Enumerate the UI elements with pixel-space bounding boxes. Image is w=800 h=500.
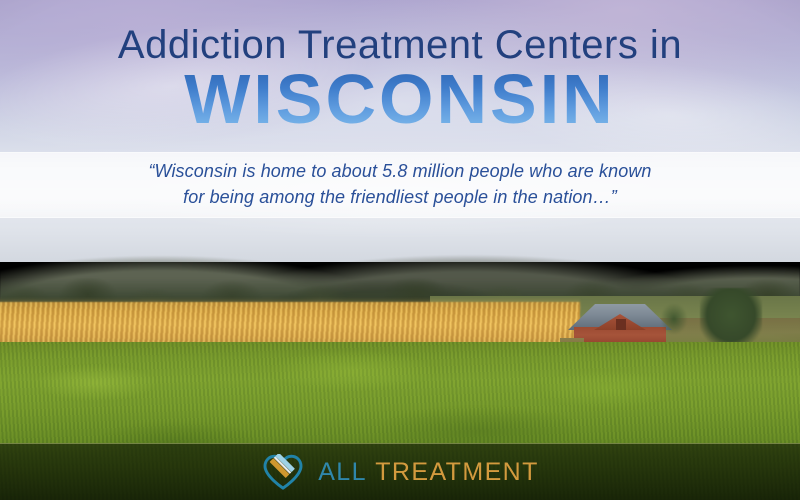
brand-word-all: ALL <box>318 458 367 486</box>
footer-bar: ALL TREATMENT <box>0 443 800 500</box>
hero-banner: Addiction Treatment Centers in WISCONSIN… <box>0 0 800 500</box>
barn-door <box>616 319 626 330</box>
subtitle-quote-line-2: for being among the friendliest people i… <box>183 185 617 211</box>
heart-stripes-icon <box>261 454 305 490</box>
page-title-state: WISCONSIN <box>0 64 800 134</box>
title-block: Addiction Treatment Centers in WISCONSIN <box>0 0 800 152</box>
tree-large <box>700 288 762 348</box>
subtitle-quote: “Wisconsin is home to about 5.8 million … <box>0 152 800 218</box>
brand-wordmark: ALL TREATMENT <box>318 458 539 487</box>
brand-word-treatment: TREATMENT <box>375 458 539 486</box>
subtitle-quote-line-1: “Wisconsin is home to about 5.8 million … <box>148 159 651 185</box>
tree-small <box>661 304 687 334</box>
brand-logo[interactable]: ALL TREATMENT <box>261 454 539 490</box>
